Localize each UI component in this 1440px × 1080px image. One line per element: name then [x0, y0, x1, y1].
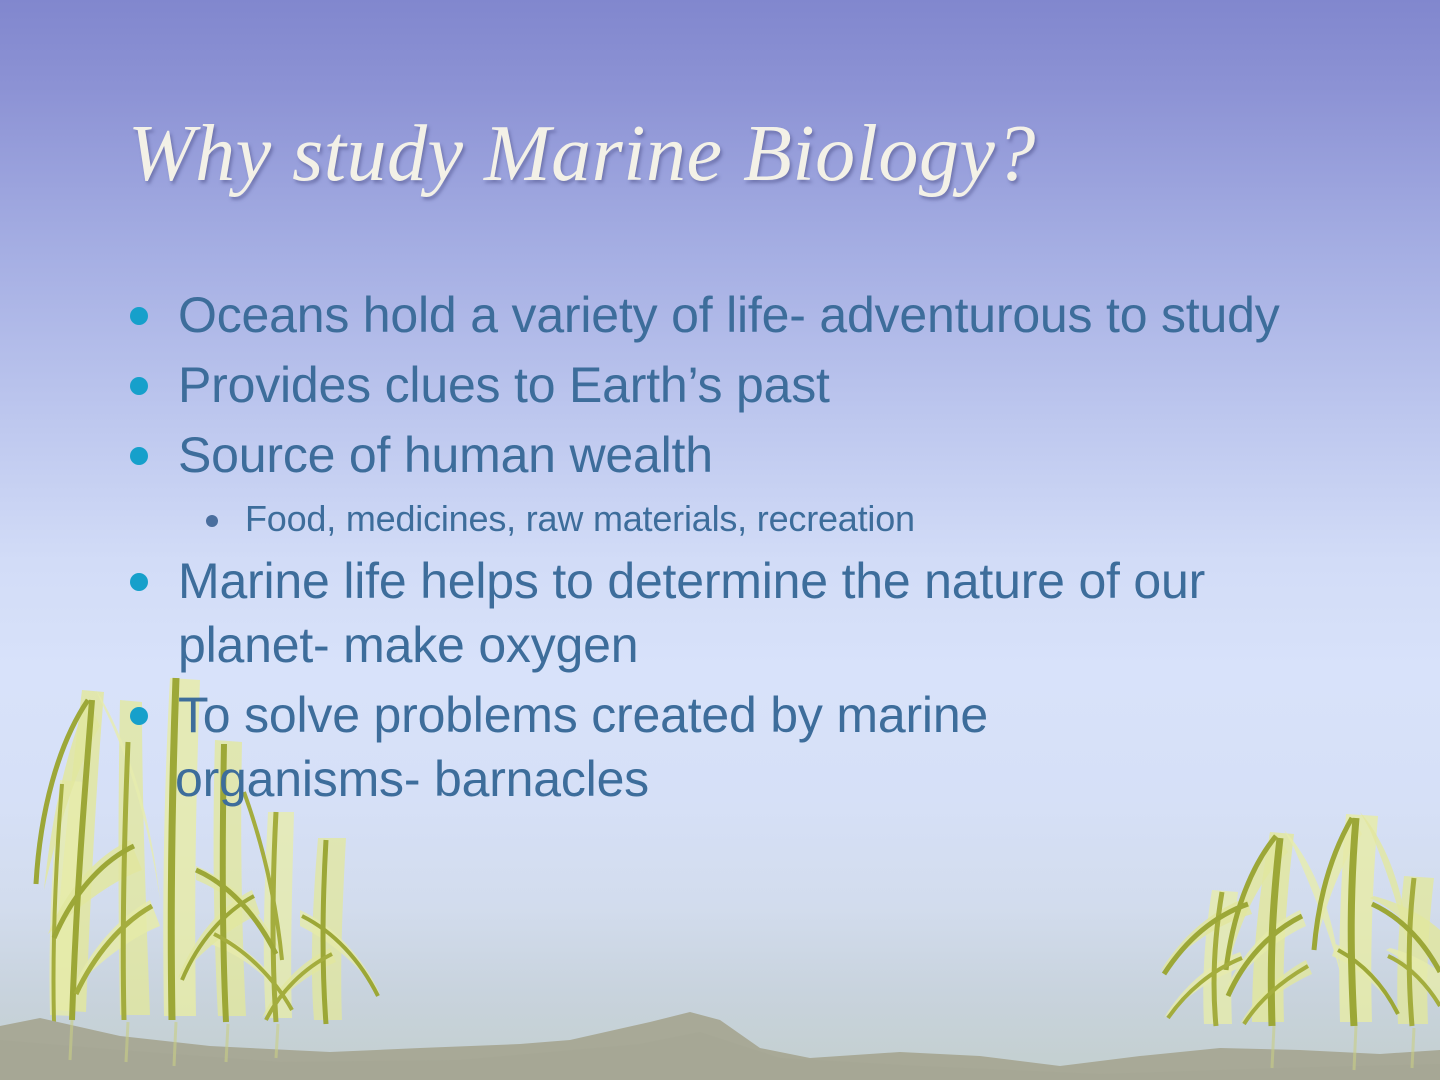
level1-bullet-dot-icon	[130, 573, 148, 591]
level1-bullet-dot-icon	[130, 307, 148, 325]
level2-bullet-dot-icon	[206, 515, 218, 527]
bullet-text: Provides clues to Earth’s past	[178, 357, 830, 413]
bullet-item-4-sub: Food, medicines, raw materials, recreati…	[120, 493, 1340, 545]
grass-plant-right-icon	[1160, 812, 1440, 1026]
bullet-item-2: Provides clues to Earth’s past	[120, 353, 1340, 417]
bullet-text: Marine life helps to determine the natur…	[178, 553, 1205, 673]
slide-body-content: Oceans hold a variety of life- adventuro…	[120, 283, 1340, 817]
bullet-text-line-2: organisms- barnacles	[175, 747, 1340, 811]
bullet-item-1: Oceans hold a variety of life- adventuro…	[120, 283, 1340, 347]
level1-bullet-dot-icon	[130, 447, 148, 465]
bullet-text: Food, medicines, raw materials, recreati…	[245, 498, 915, 539]
bullet-item-3: Source of human wealth	[120, 423, 1340, 487]
presentation-slide: Why study Marine Biology? Oceans hold a …	[0, 0, 1440, 1080]
bullet-item-6: To solve problems created by marine orga…	[120, 683, 1340, 811]
bullet-text: Source of human wealth	[178, 427, 713, 483]
bullet-item-5: Marine life helps to determine the natur…	[120, 549, 1340, 677]
ground-silhouette	[0, 1012, 1440, 1080]
bullet-text: Oceans hold a variety of life- adventuro…	[178, 287, 1280, 343]
bullet-text-line-1: To solve problems created by marine	[178, 683, 1340, 747]
slide-title: Why study Marine Biology?	[128, 108, 1308, 200]
ground-silhouette-far	[0, 1032, 1440, 1080]
level1-bullet-dot-icon	[130, 707, 148, 725]
level1-bullet-dot-icon	[130, 377, 148, 395]
